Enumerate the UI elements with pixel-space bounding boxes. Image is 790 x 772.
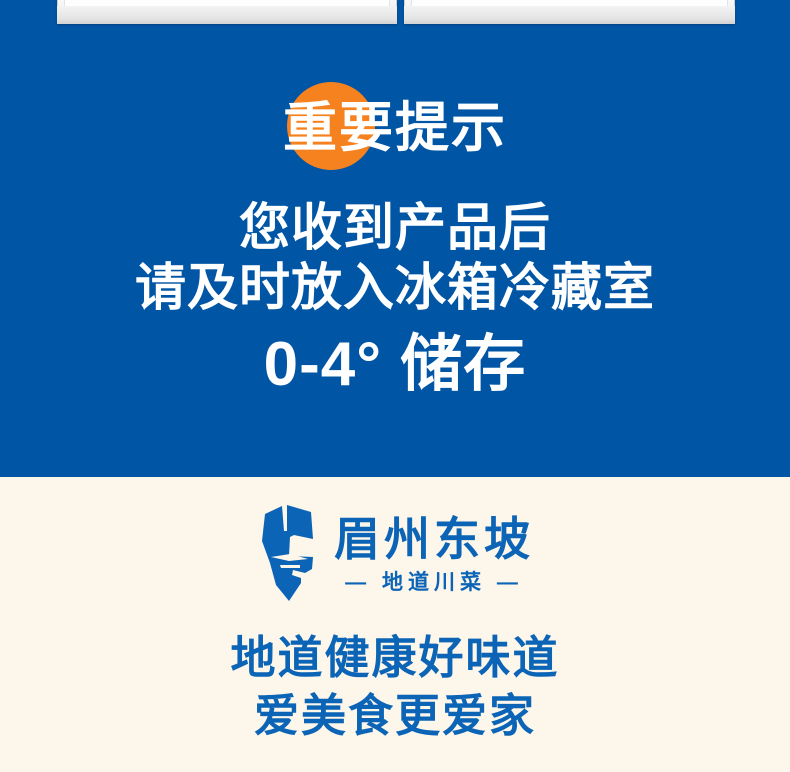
product-image-panel-right [404, 0, 735, 24]
brand-logo-wordmark: 眉州东坡 — 地道川菜 — [334, 512, 534, 596]
panel-left-bottom-shade [57, 6, 397, 24]
notice-line-1: 您收到产品后 [0, 198, 790, 258]
slogan-line-1: 地道健康好味道 [0, 629, 790, 687]
important-notice-badge: 重要提示 [0, 82, 790, 174]
important-notice-section: 重要提示 您收到产品后 请及时放入冰箱冷藏室 0-4° 储存 [0, 0, 790, 477]
brand-logo: 眉州东坡 — 地道川菜 — [0, 498, 790, 610]
brand-name: 眉州东坡 [334, 512, 534, 566]
panel-right-bottom-shade [404, 6, 735, 24]
top-panel-strip [0, 0, 790, 24]
su-dongpo-figure-logo-mark-icon [256, 501, 318, 607]
promo-page: 重要提示 您收到产品后 请及时放入冰箱冷藏室 0-4° 储存 眉州东坡 — 地道… [0, 0, 790, 772]
important-notice-title: 重要提示 [0, 82, 790, 174]
storage-temperature-line: 0-4° 储存 [0, 328, 790, 402]
brand-tagline: — 地道川菜 — [334, 570, 534, 596]
brand-slogan: 地道健康好味道 爱美食更爱家 [0, 629, 790, 745]
product-image-panel-left [57, 0, 397, 24]
slogan-line-2: 爱美食更爱家 [0, 687, 790, 745]
notice-line-2: 请及时放入冰箱冷藏室 [0, 258, 790, 318]
brand-footer-section: 眉州东坡 — 地道川菜 — 地道健康好味道 爱美食更爱家 [0, 477, 790, 772]
storage-instructions: 您收到产品后 请及时放入冰箱冷藏室 0-4° 储存 [0, 198, 790, 402]
